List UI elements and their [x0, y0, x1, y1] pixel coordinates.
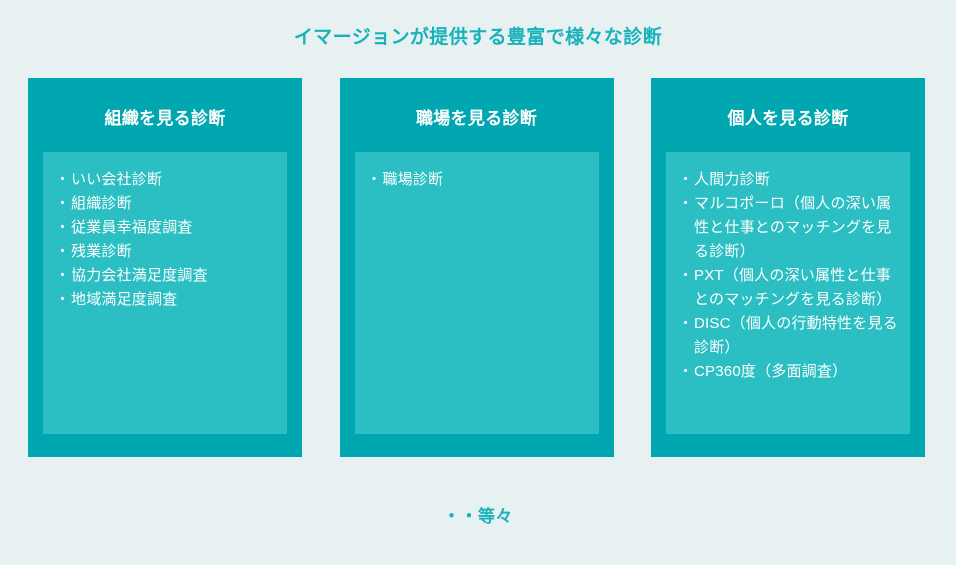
list-item: ・ DISC（個人の行動特性を見る診断）	[678, 312, 898, 360]
list-item-label: 職場診断	[383, 171, 444, 188]
list-item-label: PXT（個人の深い属性と仕事とのマッチングを見る診断）	[694, 267, 891, 308]
bullet-icon: ・	[678, 360, 693, 384]
list-item: ・ 組織診断	[55, 192, 275, 216]
list-item-label: 人間力診断	[694, 171, 770, 188]
bullet-icon: ・	[55, 240, 70, 264]
diagnosis-card-individual: 個人を見る診断 ・ 人間力診断 ・ マルコポーロ（個人の深い属性と仕事とのマッチ…	[651, 78, 925, 457]
card-title-organization: 組織を見る診断	[28, 108, 302, 130]
infographic-page: イマージョンが提供する豊富で様々な診断 組織を見る診断 ・ いい会社診断 ・ 組…	[0, 0, 956, 565]
bullet-icon: ・	[678, 192, 693, 216]
page-title: イマージョンが提供する豊富で様々な診断	[0, 26, 956, 50]
bullet-icon: ・	[55, 288, 70, 312]
list-item-label: 残業診断	[71, 243, 132, 260]
list-item-label: 地域満足度調査	[71, 291, 177, 308]
list-item: ・ 職場診断	[367, 168, 587, 192]
diagnosis-card-group: 組織を見る診断 ・ いい会社診断 ・ 組織診断 ・ 従業員幸福度調査	[28, 78, 925, 457]
bullet-icon: ・	[55, 192, 70, 216]
diagnosis-list-organization: ・ いい会社診断 ・ 組織診断 ・ 従業員幸福度調査 ・ 残業診断	[55, 168, 275, 312]
card-title-workplace: 職場を見る診断	[340, 108, 614, 130]
list-item-label: マルコポーロ（個人の深い属性と仕事とのマッチングを見る診断）	[694, 195, 891, 260]
bullet-icon: ・	[367, 168, 382, 192]
diagnosis-list-workplace: ・ 職場診断	[367, 168, 587, 192]
list-item: ・ 地域満足度調査	[55, 288, 275, 312]
bullet-icon: ・	[55, 216, 70, 240]
list-item-label: 協力会社満足度調査	[71, 267, 208, 284]
bullet-icon: ・	[55, 168, 70, 192]
diagnosis-card-workplace: 職場を見る診断 ・ 職場診断	[340, 78, 614, 457]
list-item: ・ いい会社診断	[55, 168, 275, 192]
bullet-icon: ・	[678, 168, 693, 192]
list-item: ・ PXT（個人の深い属性と仕事とのマッチングを見る診断）	[678, 264, 898, 312]
diagnosis-card-organization: 組織を見る診断 ・ いい会社診断 ・ 組織診断 ・ 従業員幸福度調査	[28, 78, 302, 457]
bullet-icon: ・	[678, 264, 693, 288]
card-title-individual: 個人を見る診断	[651, 108, 925, 130]
list-item: ・ CP360度（多面調査）	[678, 360, 898, 384]
list-item-label: DISC（個人の行動特性を見る診断）	[694, 315, 898, 356]
footer-note: ・・等々	[0, 505, 956, 529]
list-item-label: 従業員幸福度調査	[71, 219, 193, 236]
list-item: ・ 従業員幸福度調査	[55, 216, 275, 240]
list-item-label: いい会社診断	[71, 171, 162, 188]
card-panel-workplace: ・ 職場診断	[355, 152, 599, 434]
list-item: ・ 人間力診断	[678, 168, 898, 192]
list-item: ・ 協力会社満足度調査	[55, 264, 275, 288]
list-item: ・ マルコポーロ（個人の深い属性と仕事とのマッチングを見る診断）	[678, 192, 898, 264]
diagnosis-list-individual: ・ 人間力診断 ・ マルコポーロ（個人の深い属性と仕事とのマッチングを見る診断）…	[678, 168, 898, 384]
bullet-icon: ・	[55, 264, 70, 288]
card-panel-individual: ・ 人間力診断 ・ マルコポーロ（個人の深い属性と仕事とのマッチングを見る診断）…	[666, 152, 910, 434]
list-item-label: CP360度（多面調査）	[694, 363, 847, 380]
bullet-icon: ・	[678, 312, 693, 336]
card-panel-organization: ・ いい会社診断 ・ 組織診断 ・ 従業員幸福度調査 ・ 残業診断	[43, 152, 287, 434]
list-item: ・ 残業診断	[55, 240, 275, 264]
list-item-label: 組織診断	[71, 195, 132, 212]
